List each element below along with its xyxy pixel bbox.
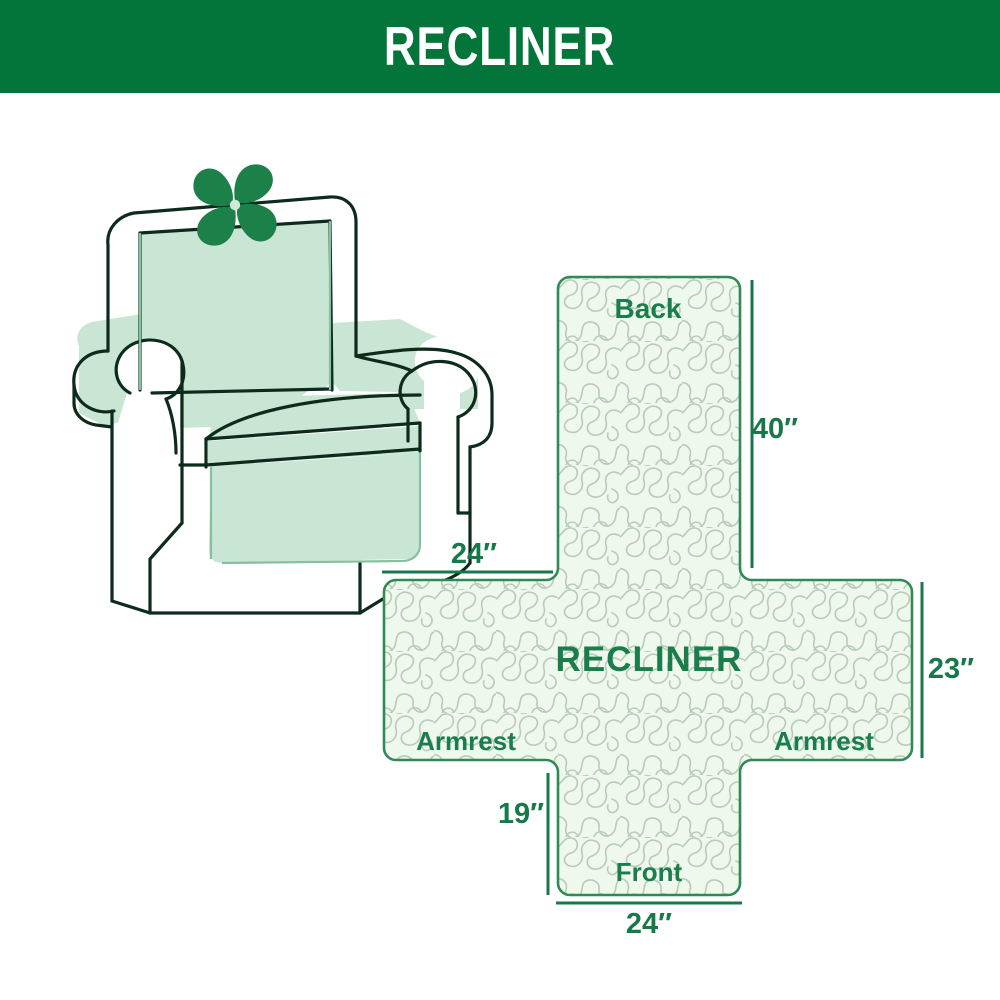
label-armrest-right: Armrest bbox=[774, 726, 874, 756]
header-bar: RECLINER bbox=[0, 0, 1000, 93]
label-front: Front bbox=[616, 857, 683, 887]
diagram-stage: Back RECLINER Armrest Armrest Front 40″ … bbox=[0, 93, 1000, 1000]
dimension-label-40: 40″ bbox=[752, 413, 798, 445]
dimension-label-24-bottom: 24″ bbox=[626, 908, 672, 940]
dimension-label-24-top: 24″ bbox=[451, 538, 497, 570]
label-back: Back bbox=[615, 293, 682, 324]
chair-base-left bbox=[112, 465, 200, 613]
label-armrest-left: Armrest bbox=[416, 726, 516, 756]
page-title: RECLINER bbox=[384, 19, 615, 74]
chair-seat-front bbox=[209, 453, 420, 563]
label-recliner-center: RECLINER bbox=[556, 640, 743, 679]
armchair-illustration bbox=[74, 164, 492, 613]
diagram-svg: Back RECLINER Armrest Armrest Front 40″ … bbox=[0, 93, 1000, 1000]
dimension-label-23: 23″ bbox=[928, 653, 974, 685]
diagram-page: RECLINER bbox=[0, 0, 1000, 1000]
dimension-label-19: 19″ bbox=[498, 798, 544, 830]
